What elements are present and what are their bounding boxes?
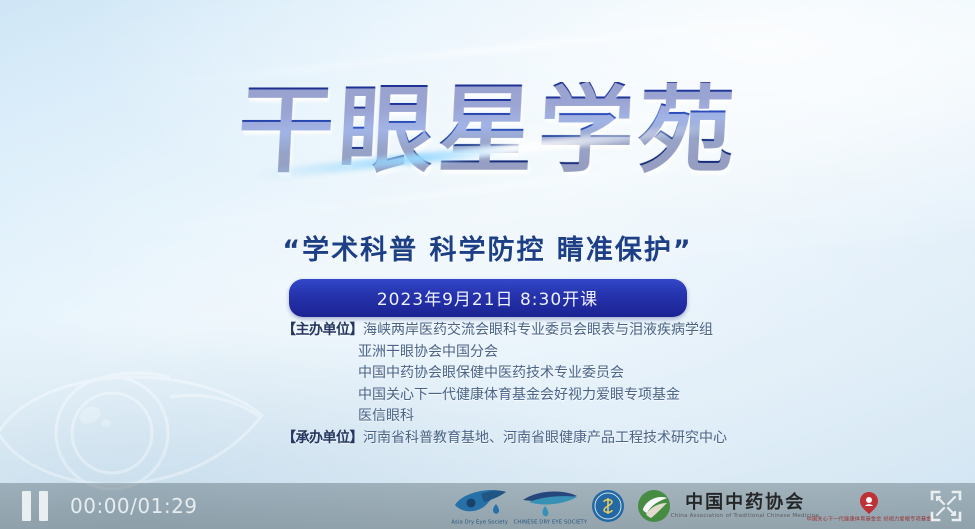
- main-title: 干眼星学苑: [235, 82, 740, 178]
- chinese-dry-eye-society-caption: CHINESE DRY EYE SOCIETY: [513, 518, 587, 524]
- host-line-3: 中国中药协会眼保健中医药技术专业委员会: [282, 363, 727, 385]
- tcm-wordmark-text: 中国中药协会: [685, 494, 805, 512]
- host-line-1: 【主办单位】海峡两岸医药交流会眼科专业委员会眼表与泪液疾病学组: [282, 320, 727, 342]
- medical-emblem-logo: [591, 485, 625, 527]
- subtitle: “学术科普 科学防控 睛准保护”: [0, 228, 975, 267]
- care-next-generation-foundation-logo: 中国关心下一代健康体育基金会 好视力爱眼专项基金: [819, 485, 919, 527]
- pause-bar-left: [22, 491, 31, 521]
- pause-bar-right: [39, 491, 48, 521]
- time-display: 00:00/01:29: [70, 494, 198, 518]
- title-container: 干眼星学苑: [0, 82, 975, 178]
- date-banner: 2023年9月21日 8:30开课: [289, 279, 687, 317]
- organizer-label: 【承办单位】: [282, 430, 363, 446]
- host-line-text: 医信眼科: [358, 408, 414, 424]
- organizer-line: 【承办单位】河南省科普教育基地、河南省眼健康产品工程技术研究中心: [282, 428, 727, 450]
- host-line-text: 海峡两岸医药交流会眼科专业委员会眼表与泪液疾病学组: [363, 322, 713, 338]
- asia-dry-eye-society-logo: Asia Dry Eye Society: [451, 485, 509, 527]
- sponsor-logo-strip: Asia Dry Eye Society CHINESE DRY EYE SOC…: [451, 485, 920, 527]
- player-control-bar[interactable]: 00:00/01:29 Asia Dry Eye Society CHI: [0, 483, 975, 529]
- china-association-tcm-wordmark: 中国中药协会 China Association of Traditional …: [683, 485, 807, 527]
- host-label: 【主办单位】: [282, 322, 363, 338]
- organizer-block: 【主办单位】海峡两岸医药交流会眼科专业委员会眼表与泪液疾病学组 亚洲干眼协会中国…: [282, 320, 727, 449]
- organizer-line-text: 河南省科普教育基地、河南省眼健康产品工程技术研究中心: [363, 430, 727, 446]
- china-association-tcm-logo: [637, 485, 671, 527]
- host-line-4: 中国关心下一代健康体育基金会好视力爱眼专项基金: [282, 385, 727, 407]
- video-player[interactable]: 干眼星学苑 “学术科普 科学防控 睛准保护” 2023年9月21日 8:30开课…: [0, 0, 975, 529]
- host-line-2: 亚洲干眼协会中国分会: [282, 342, 727, 364]
- chinese-dry-eye-society-logo: CHINESE DRY EYE SOCIETY: [521, 485, 580, 527]
- host-line-text: 中国中药协会眼保健中医药技术专业委员会: [358, 365, 624, 381]
- tcm-wordmark-caption: China Association of Traditional Chinese…: [671, 513, 819, 519]
- host-line-text: 中国关心下一代健康体育基金会好视力爱眼专项基金: [358, 387, 680, 403]
- host-line-text: 亚洲干眼协会中国分会: [358, 344, 498, 360]
- pause-icon[interactable]: [22, 491, 48, 521]
- date-banner-row: 2023年9月21日 8:30开课: [0, 279, 975, 317]
- care-next-generation-caption: 中国关心下一代健康体育基金会 好视力爱眼专项基金: [806, 515, 931, 523]
- fullscreen-expand-icon[interactable]: [929, 489, 963, 523]
- asia-dry-eye-society-caption: Asia Dry Eye Society: [451, 518, 508, 524]
- host-line-5: 医信眼科: [282, 406, 727, 428]
